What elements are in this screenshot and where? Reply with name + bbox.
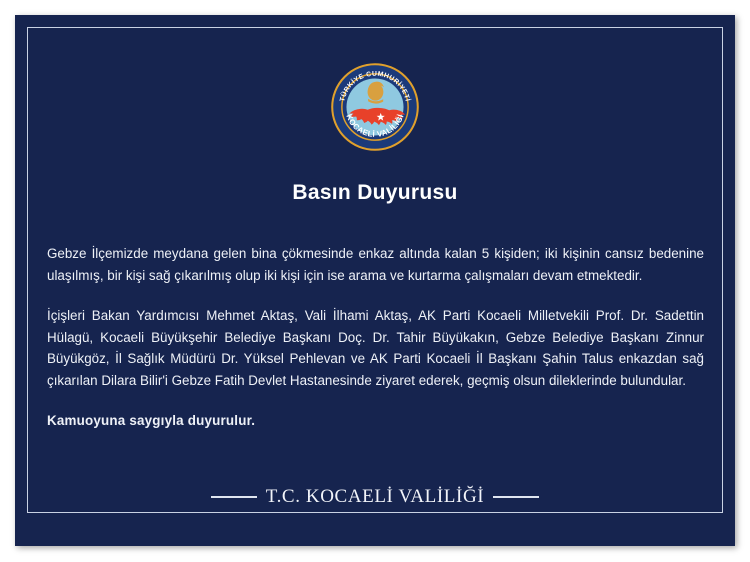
paragraph-incident: Gebze İlçemizde meydana gelen bina çökme… <box>47 243 704 286</box>
announcement-body: Gebze İlçemizde meydana gelen bina çökme… <box>47 243 704 432</box>
footer-rule-right <box>493 496 539 498</box>
page-title: Basın Duyurusu <box>15 181 735 205</box>
closing-statement: Kamuoyuna saygıyla duyurulur. <box>47 410 704 432</box>
press-release-poster: TÜRKİYE CUMHURİYETİ KOCAELİ VALİLİĞİ Bas… <box>15 15 735 546</box>
footer-rule-left <box>211 496 257 498</box>
emblem-container: TÜRKİYE CUMHURİYETİ KOCAELİ VALİLİĞİ <box>15 59 735 155</box>
kocaeli-governorship-seal-icon: TÜRKİYE CUMHURİYETİ KOCAELİ VALİLİĞİ <box>329 61 421 153</box>
paragraph-officials-visit: İçişleri Bakan Yardımcısı Mehmet Aktaş, … <box>47 305 704 391</box>
footer-authority-name: T.C. KOCAELİ VALİLİĞİ <box>266 486 484 508</box>
footer: T.C. KOCAELİ VALİLİĞİ <box>15 486 735 508</box>
